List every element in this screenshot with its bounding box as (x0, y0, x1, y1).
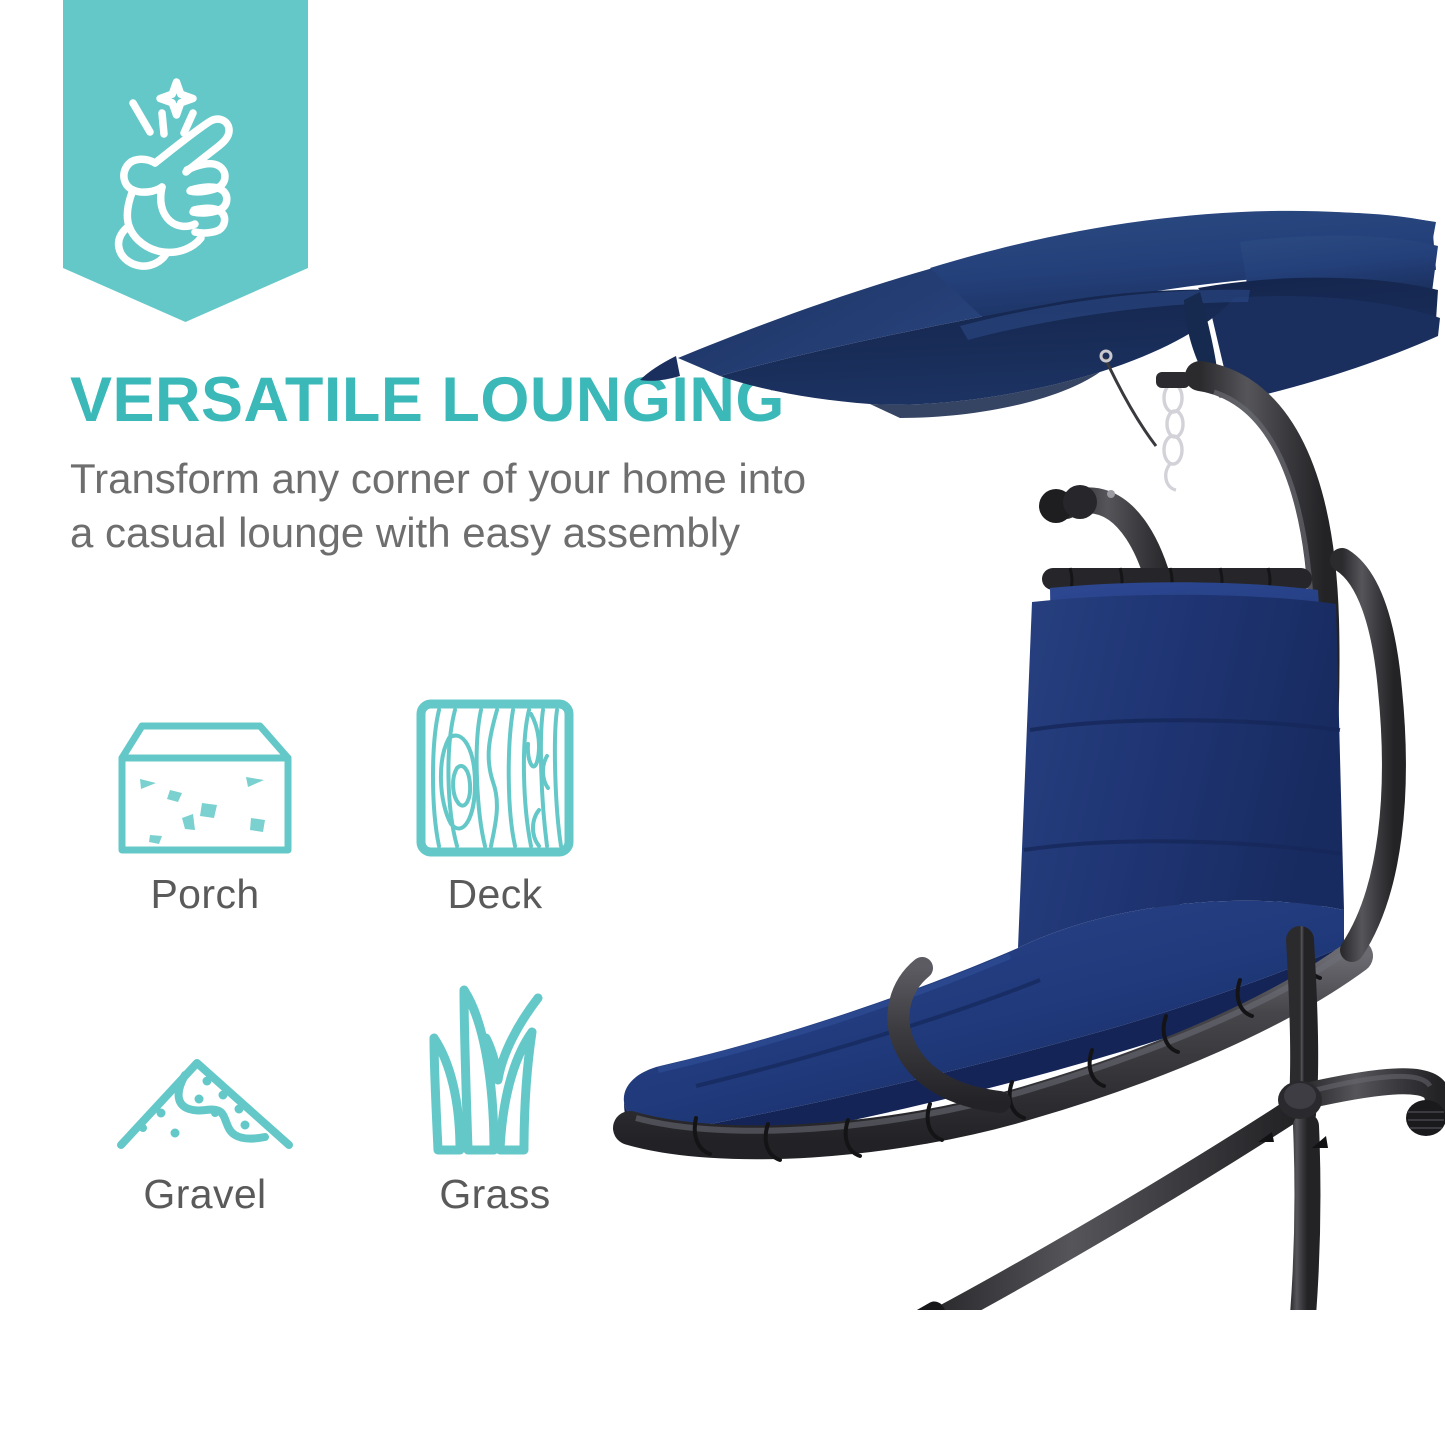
feature-item-grass: Grass (350, 915, 640, 1215)
feature-label-porch: Porch (150, 874, 259, 915)
feature-item-gravel: Gravel (60, 915, 350, 1215)
grass-blades-icon (395, 958, 595, 1158)
canopy (640, 211, 1440, 418)
seat-cushion (624, 595, 1344, 1152)
gravel-pile-icon (105, 958, 305, 1158)
product-marketing-card: VERSATILE LOUNGING Transform any corner … (0, 0, 1445, 1445)
feature-banner (63, 0, 308, 322)
wood-grain-icon (395, 658, 595, 858)
hanging-chain (1101, 351, 1190, 490)
feature-item-deck: Deck (350, 615, 640, 915)
concrete-slab-icon (105, 658, 305, 858)
surface-compatibility-grid: Porch (60, 615, 640, 1215)
feature-label-gravel: Gravel (143, 1174, 266, 1215)
product-image-hanging-chaise-lounge (600, 150, 1445, 1310)
feature-label-grass: Grass (439, 1174, 550, 1215)
feature-label-deck: Deck (447, 874, 542, 915)
feature-item-porch: Porch (60, 615, 350, 915)
